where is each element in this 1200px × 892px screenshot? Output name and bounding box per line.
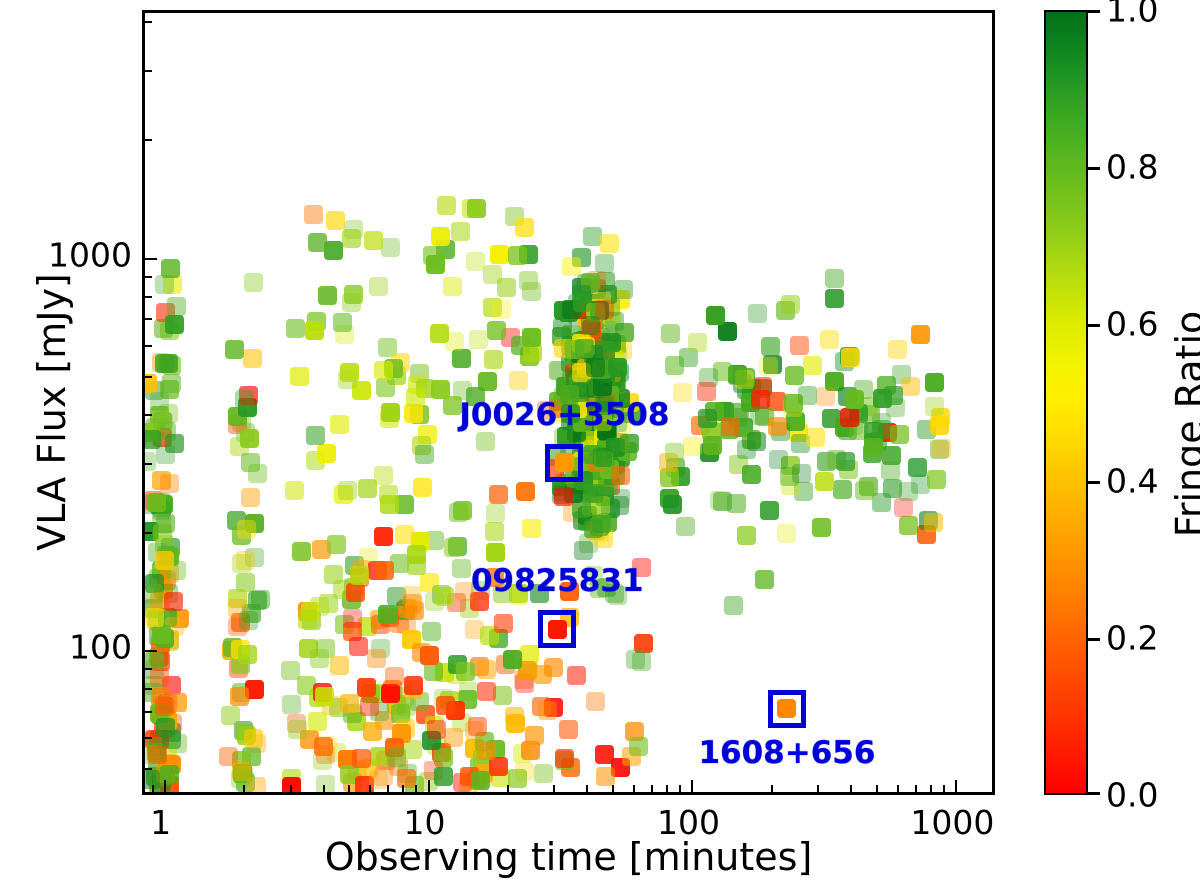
scatter-point	[534, 764, 553, 783]
scatter-point	[575, 339, 594, 358]
x-axis-minor-tick	[507, 785, 509, 793]
scatter-point	[350, 566, 369, 585]
scatter-point	[629, 737, 648, 756]
scatter-point	[508, 246, 527, 265]
scatter-point	[836, 452, 855, 471]
x-axis-minor-tick	[897, 785, 899, 793]
scatter-point	[553, 318, 572, 337]
highlight-box	[538, 610, 576, 648]
x-axis-minor-tick	[612, 785, 614, 793]
scatter-point	[165, 315, 184, 334]
scatter-point	[282, 695, 301, 714]
x-axis-minor-tick	[771, 785, 773, 793]
scatter-point	[614, 280, 633, 299]
colorbar-tick	[1088, 167, 1100, 170]
scatter-point	[244, 273, 263, 292]
scatter-point	[586, 379, 605, 398]
scatter-point	[600, 234, 619, 253]
scatter-point	[231, 769, 250, 788]
scatter-point	[494, 614, 513, 633]
scatter-point	[894, 498, 913, 517]
scatter-point	[812, 518, 831, 537]
scatter-point	[497, 278, 516, 297]
scatter-point	[840, 408, 859, 427]
scatter-point	[806, 428, 825, 447]
scatter-point	[538, 701, 557, 720]
colorbar: 0.00.20.40.60.81.0	[1044, 10, 1088, 795]
scatter-point	[748, 304, 767, 323]
scatter-point	[369, 770, 388, 789]
scatter-point	[452, 559, 471, 578]
scatter-point	[737, 440, 756, 459]
scatter-point	[376, 378, 395, 397]
scatter-point	[924, 513, 943, 532]
scatter-point	[324, 565, 343, 584]
annotation-label: 09825831	[471, 563, 644, 599]
scatter-point	[404, 676, 423, 695]
scatter-point	[357, 678, 376, 697]
scatter-point	[581, 316, 600, 335]
scatter-point	[380, 495, 399, 514]
scatter-point	[298, 610, 317, 629]
scatter-point	[661, 324, 680, 343]
scatter-point	[544, 658, 563, 677]
scatter-point	[584, 519, 603, 538]
x-axis-label: Observing time [minutes]	[142, 835, 995, 879]
scatter-point	[608, 358, 627, 377]
scatter-point	[584, 484, 603, 503]
scatter-point	[486, 504, 505, 523]
y-axis-minor-tick	[144, 463, 152, 465]
y-axis-minor-tick	[144, 296, 152, 298]
scatter-point	[468, 717, 487, 736]
scatter-point	[760, 501, 779, 520]
scatter-point	[221, 706, 240, 725]
x-axis-minor-tick	[348, 785, 350, 793]
scatter-point	[703, 436, 722, 455]
scatter-point	[768, 417, 787, 436]
colorbar-gradient	[1044, 10, 1088, 795]
scatter-point	[430, 324, 449, 343]
scatter-point	[559, 720, 578, 739]
scatter-point	[324, 241, 343, 260]
scatter-point	[864, 438, 883, 457]
scatter-point	[595, 254, 614, 273]
scatter-point	[369, 277, 388, 296]
scatter-point	[522, 519, 541, 538]
scatter-point	[431, 227, 450, 246]
scatter-point	[485, 522, 504, 541]
scatter-point	[706, 306, 725, 325]
scatter-point	[886, 398, 905, 417]
scatter-point	[281, 661, 300, 680]
scatter-point	[413, 478, 432, 497]
scatter-point	[899, 482, 918, 501]
x-axis-major-tick	[691, 780, 693, 793]
scatter-point	[515, 218, 534, 237]
scatter-point	[505, 707, 524, 726]
scatter-point	[317, 444, 336, 463]
scatter-point	[308, 233, 327, 252]
scatter-point	[402, 586, 421, 605]
x-axis-minor-tick	[402, 785, 404, 793]
colorbar-tick	[1088, 10, 1100, 13]
x-axis-minor-tick	[817, 785, 819, 793]
scatter-point	[167, 297, 186, 316]
colorbar-tick	[1088, 638, 1100, 641]
scatter-point	[841, 348, 860, 367]
scatter-point	[761, 337, 780, 356]
scatter-point	[387, 748, 406, 767]
colorbar-tick-label: 0.6	[1106, 305, 1158, 344]
scatter-point	[487, 321, 506, 340]
scatter-point	[737, 526, 756, 545]
scatter-point	[469, 330, 488, 349]
scatter-point	[721, 417, 740, 436]
y-axis-minor-tick	[144, 376, 152, 378]
x-axis-minor-tick	[850, 785, 852, 793]
scatter-point	[349, 637, 368, 656]
scatter-point	[595, 745, 614, 764]
scatter-point	[395, 525, 414, 544]
scatter-point	[750, 406, 769, 425]
scatter-point	[330, 415, 349, 434]
x-axis-minor-tick	[930, 785, 932, 793]
scatter-point	[509, 371, 528, 390]
colorbar-tick	[1088, 792, 1100, 795]
scatter-point	[899, 516, 918, 535]
scatter-point	[444, 538, 463, 557]
scatter-point	[374, 466, 393, 485]
scatter-point	[781, 295, 800, 314]
scatter-point	[155, 275, 174, 294]
x-axis-minor-tick	[415, 785, 417, 793]
x-axis-minor-tick	[876, 785, 878, 793]
colorbar-tick-label: 0.8	[1106, 148, 1158, 187]
scatter-point	[378, 605, 397, 624]
scatter-point	[453, 501, 472, 520]
scatter-point	[476, 432, 495, 451]
scatter-point	[698, 409, 717, 428]
x-axis-minor-tick	[387, 785, 389, 793]
scatter-point	[759, 357, 778, 376]
x-axis-minor-tick	[679, 785, 681, 793]
y-axis-tick-label: 100	[69, 628, 132, 667]
scatter-point	[451, 222, 470, 241]
scatter-point	[352, 749, 371, 768]
scatter-point	[911, 325, 930, 344]
scatter-point	[437, 196, 456, 215]
scatter-point	[318, 286, 337, 305]
scatter-point	[435, 587, 454, 606]
y-axis-minor-tick	[144, 768, 152, 770]
scatter-point	[467, 199, 486, 218]
colorbar-label: Fringe Ratio	[1168, 184, 1200, 664]
scatter-point	[901, 377, 920, 396]
scatter-point	[363, 722, 382, 741]
scatter-point	[596, 767, 615, 786]
colorbar-tick-label: 0.2	[1106, 619, 1158, 658]
scatter-point	[381, 684, 400, 703]
scatter-point	[908, 458, 927, 477]
scatter-point	[508, 769, 527, 788]
y-axis-label: VLA Flux [mJy]	[30, 172, 74, 652]
scatter-point	[925, 373, 944, 392]
scatter-point	[159, 354, 178, 373]
x-axis-minor-tick	[152, 785, 154, 793]
plot-area: J0026+3508098258311608+656	[142, 10, 995, 795]
y-axis-major-tick	[144, 650, 157, 652]
scatter-point	[443, 277, 462, 296]
scatter-point	[452, 349, 471, 368]
x-axis-minor-tick	[586, 785, 588, 793]
x-axis-major-tick	[955, 780, 957, 793]
scatter-point	[232, 554, 251, 573]
scatter-point	[769, 450, 788, 469]
scatter-point	[727, 494, 746, 513]
scatter-point	[845, 390, 864, 409]
scatter-point	[326, 211, 345, 230]
scatter-point	[225, 340, 244, 359]
scatter-point	[792, 464, 811, 483]
annotation-label: J0026+3508	[459, 397, 669, 433]
scatter-point	[304, 205, 323, 224]
scatter-point	[567, 666, 586, 685]
scatter-point	[825, 289, 844, 308]
scatter-point	[927, 470, 946, 489]
scatter-point	[310, 649, 329, 668]
scatter-point	[248, 591, 267, 610]
scatter-point	[525, 726, 544, 745]
scatter-point	[244, 729, 263, 748]
x-axis-minor-tick	[915, 785, 917, 793]
scatter-point	[152, 625, 171, 644]
scatter-point	[803, 356, 822, 375]
scatter-point	[327, 535, 346, 554]
scatter-point	[755, 570, 774, 589]
scatter-point	[932, 439, 951, 458]
y-axis-minor-tick	[144, 21, 152, 23]
scatter-point	[519, 271, 538, 290]
scatter-point	[156, 514, 175, 533]
scatter-point	[375, 561, 394, 580]
scatter-point	[145, 430, 161, 449]
scatter-point	[346, 583, 365, 602]
colorbar-tick-label: 1.0	[1106, 0, 1158, 30]
scatter-point	[340, 363, 359, 382]
y-axis-minor-tick	[144, 711, 152, 713]
scatter-point	[333, 313, 352, 332]
scatter-point	[489, 757, 508, 776]
scatter-point	[477, 741, 496, 760]
scatter-point	[306, 426, 325, 445]
scatter-point	[586, 358, 605, 377]
y-axis-minor-tick	[144, 688, 152, 690]
scatter-point	[434, 767, 453, 786]
scatter-point	[343, 609, 362, 628]
scatter-point	[471, 771, 490, 790]
scatter-point	[492, 300, 511, 319]
scatter-point	[241, 453, 260, 472]
scatter-point	[489, 485, 508, 504]
scatter-point	[330, 656, 349, 675]
scatter-point	[342, 293, 361, 312]
scatter-point	[586, 692, 605, 711]
scatter-point	[308, 712, 327, 731]
scatter-point	[790, 336, 809, 355]
x-axis-minor-tick	[943, 785, 945, 793]
scatter-point	[342, 229, 361, 248]
scatter-point	[367, 649, 386, 668]
scatter-point	[833, 480, 852, 499]
highlight-box	[768, 690, 806, 728]
colorbar-tick-label: 0.4	[1106, 462, 1158, 501]
scatter-point	[315, 687, 334, 706]
scatter-point	[426, 255, 445, 274]
scatter-point	[230, 687, 249, 706]
scatter-point	[888, 340, 907, 359]
scatter-point	[316, 775, 335, 792]
scatter-point	[155, 551, 174, 570]
scatter-point	[522, 328, 541, 347]
x-axis-major-tick	[164, 780, 166, 793]
scatter-point	[632, 652, 651, 671]
x-axis-minor-tick	[651, 785, 653, 793]
y-axis-minor-tick	[144, 345, 152, 347]
scatter-point	[161, 259, 180, 278]
scatter-point	[247, 777, 266, 792]
scatter-point	[241, 488, 260, 507]
highlight-box	[545, 444, 583, 482]
scatter-point	[407, 556, 426, 575]
scatter-point	[663, 495, 682, 514]
scatter-point	[444, 728, 463, 747]
scatter-point	[436, 696, 455, 715]
scatter-point	[239, 611, 258, 630]
scatter-point	[156, 718, 175, 737]
scatter-point	[150, 392, 169, 411]
scatter-point	[855, 481, 874, 500]
scatter-point	[292, 542, 311, 561]
scatter-point	[237, 520, 256, 539]
scatter-point	[406, 388, 425, 407]
scatter-point	[593, 448, 612, 467]
y-axis-minor-tick	[144, 668, 152, 670]
scatter-point	[620, 434, 639, 453]
x-axis-major-tick	[428, 780, 430, 793]
scatter-point	[145, 584, 163, 603]
scatter-point	[420, 646, 439, 665]
scatter-point	[385, 667, 404, 686]
scatter-point	[422, 622, 441, 641]
x-axis-minor-tick	[369, 785, 371, 793]
scatter-point	[516, 482, 535, 501]
scatter-point	[742, 465, 761, 484]
scatter-point	[798, 386, 817, 405]
scatter-point	[785, 366, 804, 385]
scatter-point	[728, 366, 747, 385]
scatter-point	[724, 596, 743, 615]
x-axis-minor-tick	[633, 785, 635, 793]
scatter-point	[374, 527, 393, 546]
scatter-point	[381, 403, 400, 422]
scatter-point	[718, 322, 737, 341]
y-axis-minor-tick	[144, 532, 152, 534]
scatter-point	[374, 361, 393, 380]
colorbar-tick	[1088, 481, 1100, 484]
scatter-point	[816, 387, 835, 406]
y-axis-major-tick	[144, 258, 157, 260]
scatter-point	[165, 434, 184, 453]
scatter-point	[314, 737, 333, 756]
scatter-point	[611, 466, 630, 485]
x-axis-minor-tick	[290, 785, 292, 793]
scatter-point	[155, 697, 174, 716]
scatter-point	[431, 380, 450, 399]
scatter-point	[427, 720, 446, 739]
scatter-figure: J0026+3508098258311608+656 1101001000100…	[0, 0, 1200, 892]
scatter-point	[243, 349, 262, 368]
scatter-point	[486, 543, 505, 562]
scatter-point	[381, 238, 400, 257]
annotation-label: 1608+656	[698, 735, 875, 771]
scatter-point	[160, 474, 179, 493]
scatter-point	[164, 592, 183, 611]
scatter-point	[286, 319, 305, 338]
scatter-point	[338, 481, 357, 500]
scatter-point	[147, 493, 166, 512]
scatter-point	[148, 745, 167, 764]
scatter-point	[820, 330, 839, 349]
y-axis-minor-tick	[144, 139, 152, 141]
scatter-point	[415, 445, 434, 464]
y-axis-minor-tick	[144, 737, 152, 739]
scatter-point	[288, 720, 307, 739]
scatter-point	[238, 645, 257, 664]
scatter-point	[240, 429, 259, 448]
scatter-point	[364, 231, 383, 250]
x-axis-minor-tick	[323, 785, 325, 793]
y-axis-minor-tick	[144, 414, 152, 416]
scatter-point	[777, 524, 796, 543]
scatter-point	[890, 425, 909, 444]
scatter-point	[697, 382, 716, 401]
colorbar-tick	[1088, 324, 1100, 327]
scatter-point	[574, 541, 593, 560]
scatter-point	[925, 397, 944, 416]
scatter-point	[825, 269, 844, 288]
scatter-point	[683, 437, 702, 456]
y-axis-minor-tick	[144, 70, 152, 72]
scatter-point	[881, 461, 900, 480]
scatter-point	[305, 321, 324, 340]
x-axis-minor-tick	[243, 785, 245, 793]
scatter-point	[456, 662, 475, 681]
scatter-point	[290, 367, 309, 386]
scatter-point	[285, 481, 304, 500]
scatter-point	[484, 350, 503, 369]
scatter-point	[397, 769, 416, 788]
x-axis-minor-tick	[666, 785, 668, 793]
scatter-point	[665, 443, 684, 462]
scatter-point	[235, 390, 254, 409]
scatter-point	[688, 333, 707, 352]
y-axis-minor-tick	[144, 318, 152, 320]
scatter-point	[145, 608, 164, 627]
scatter-point	[503, 650, 522, 669]
scatter-point	[490, 245, 509, 264]
y-axis-minor-tick	[144, 276, 152, 278]
